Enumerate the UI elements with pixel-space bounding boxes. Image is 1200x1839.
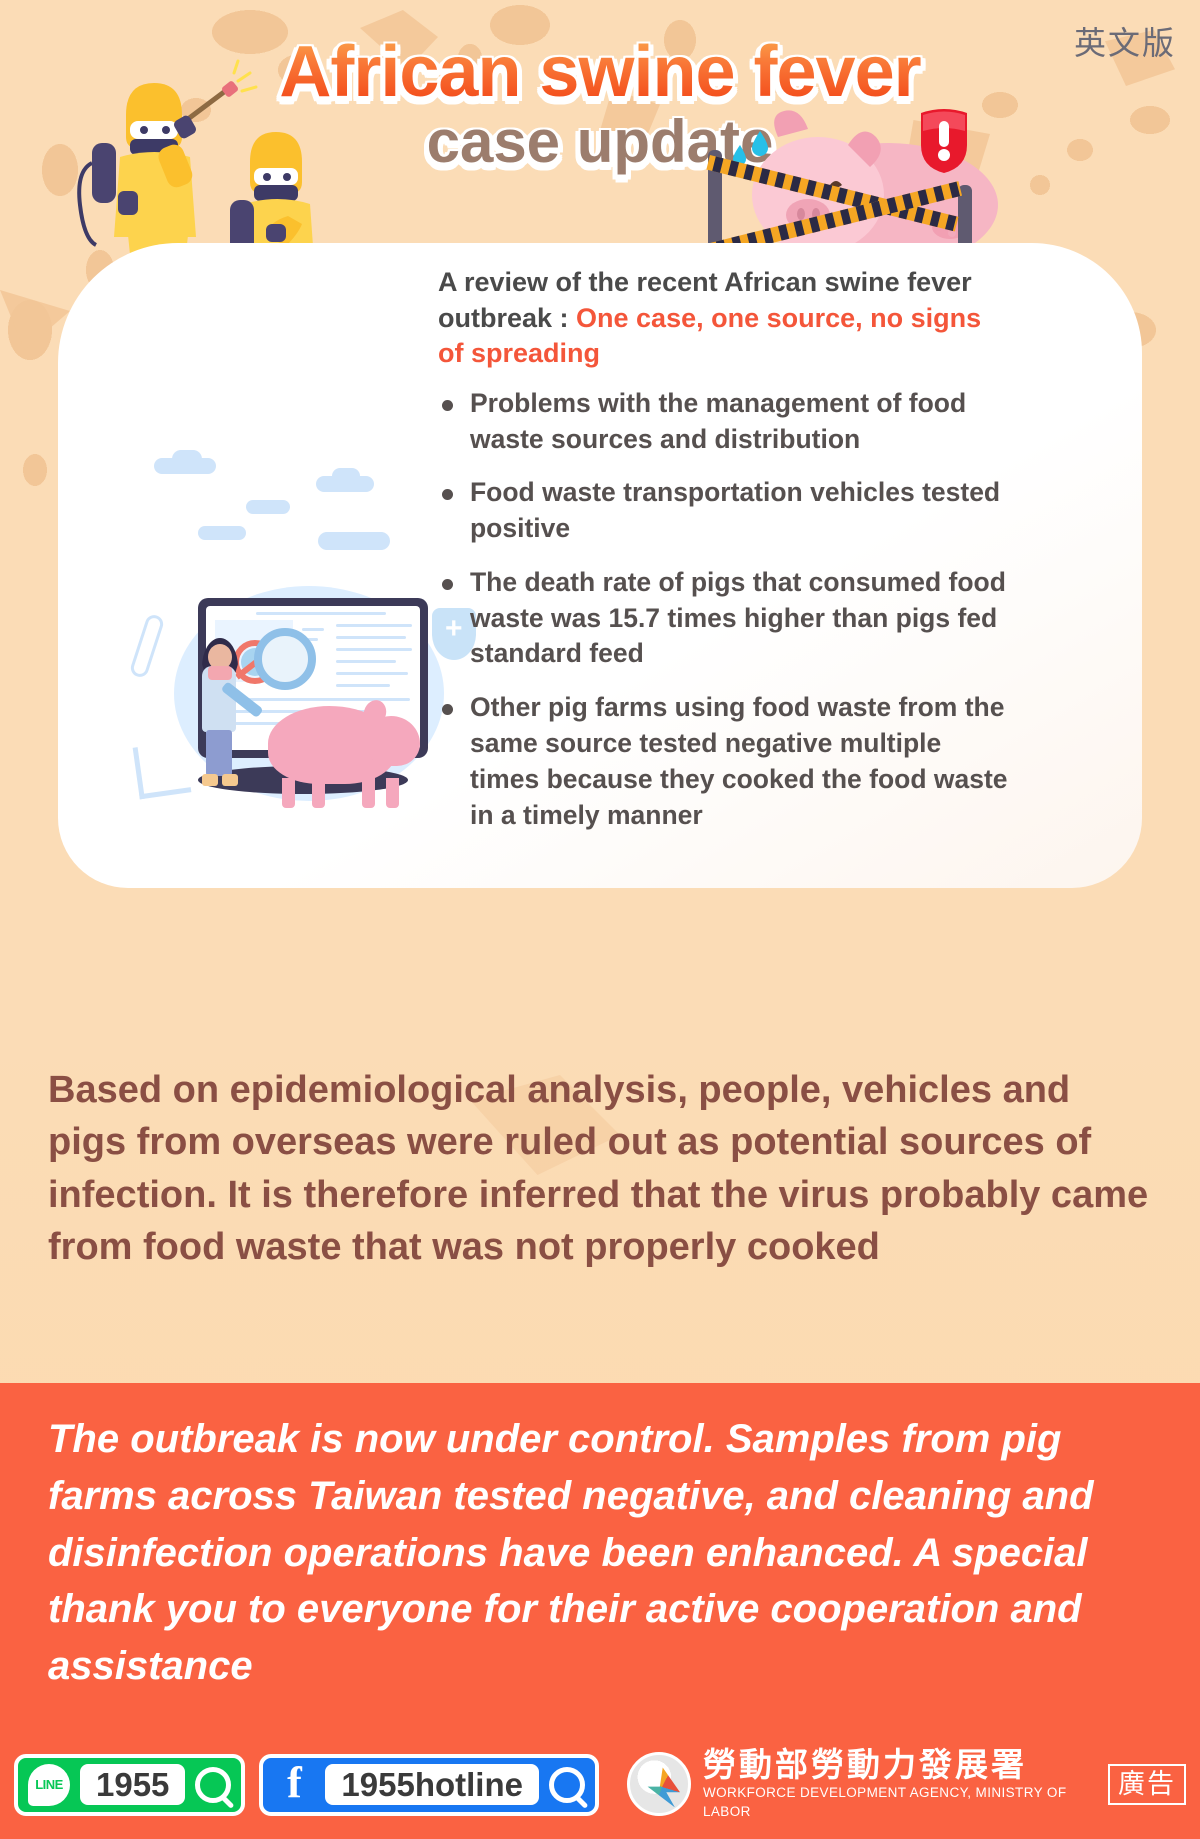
content-card: A review of the recent African swine fev… [58, 243, 1142, 888]
search-icon[interactable] [549, 1767, 585, 1803]
list-item: Food waste transportation vehicles teste… [438, 475, 1008, 547]
inspector-scarf [208, 666, 232, 680]
alert-exclamation-icon [913, 103, 975, 175]
list-item: Problems with the management of food was… [438, 386, 1008, 458]
list-item-label: Food waste transportation vehicles teste… [470, 477, 1000, 543]
pig-leg [312, 778, 325, 808]
list-item: Other pig farms using food waste from th… [438, 690, 1008, 833]
agency-branding: 勞動部勞動力發展署 WORKFORCE DEVELOPMENT AGENCY, … [627, 1747, 1094, 1821]
pig-leg [386, 778, 399, 808]
line-icon: LINE [28, 1764, 70, 1806]
cloud-icon [198, 526, 246, 540]
pig-leg [282, 778, 295, 808]
cloud-icon [172, 450, 202, 468]
microscope-icon [133, 741, 192, 800]
status-banner-text: The outbreak is now under control. Sampl… [48, 1411, 1156, 1695]
facebook-icon: f [273, 1763, 315, 1807]
line-contact-button[interactable]: LINE 1955 [14, 1754, 245, 1816]
footer-bar: LINE 1955 f 1955hotline 勞動部勞動力發展署 WORKFO… [0, 1730, 1200, 1839]
search-icon[interactable] [195, 1767, 231, 1803]
list-item-label: Other pig farms using food waste from th… [470, 692, 1008, 829]
inspector-legs [206, 730, 232, 776]
pig-leg [362, 778, 375, 808]
poster-root: 英文版 [0, 0, 1200, 1839]
bullet-dot-icon [442, 704, 453, 715]
bullet-dot-icon [442, 579, 453, 590]
ad-label-badge: 廣告 [1108, 1764, 1186, 1806]
status-banner: The outbreak is now under control. Sampl… [0, 1383, 1200, 1730]
inspection-illustration [136, 448, 476, 848]
card-text-block: A review of the recent African swine fev… [438, 265, 1008, 851]
list-item: The death rate of pigs that consumed foo… [438, 565, 1008, 672]
cloud-icon [318, 532, 390, 550]
bullet-dot-icon [442, 489, 453, 500]
findings-list: Problems with the management of food was… [438, 386, 1008, 833]
list-item-label: The death rate of pigs that consumed foo… [470, 567, 1006, 669]
cloud-icon [246, 500, 290, 514]
conclusion-paragraph: Based on epidemiological analysis, peopl… [48, 1064, 1158, 1274]
version-badge: 英文版 [1074, 18, 1176, 64]
magnifier-icon [254, 628, 316, 690]
bullet-dot-icon [442, 400, 453, 411]
facebook-page-value: 1955hotline [325, 1764, 539, 1806]
line-id-value: 1955 [80, 1764, 185, 1806]
cloud-icon [332, 468, 360, 484]
thermometer-icon [129, 613, 166, 679]
intro-paragraph: A review of the recent African swine fev… [438, 265, 1008, 372]
facebook-contact-button[interactable]: f 1955hotline [259, 1754, 599, 1816]
list-item-label: Problems with the management of food was… [470, 388, 966, 454]
inspector-boot [202, 774, 218, 786]
agency-seal-logo [627, 1752, 691, 1816]
inspector-boot [222, 774, 238, 786]
agency-name-en: WORKFORCE DEVELOPMENT AGENCY, MINISTRY O… [703, 1784, 1094, 1822]
agency-name-cn: 勞動部勞動力發展署 [703, 1747, 1094, 1783]
